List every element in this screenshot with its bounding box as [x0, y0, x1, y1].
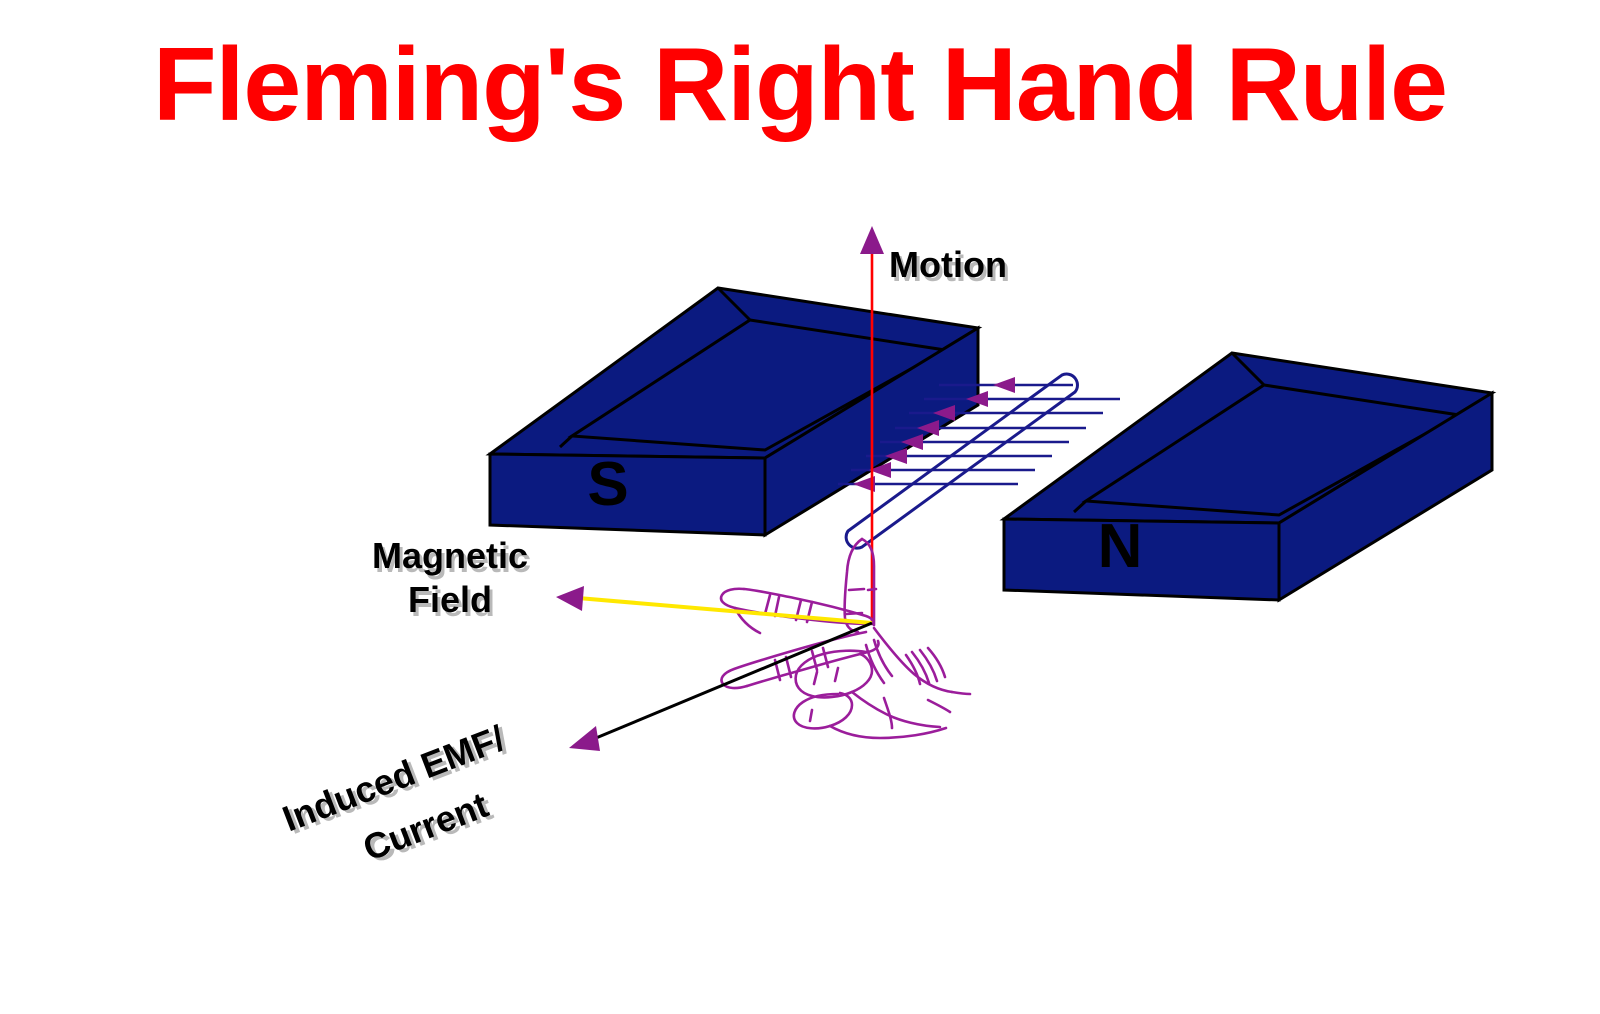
ring-crease-2	[835, 668, 838, 681]
thumb-knuckle-crease-1	[849, 589, 864, 590]
middle-finger-top-edge	[721, 632, 866, 688]
hand-lower-edge	[852, 692, 940, 727]
induced-emf-axis-line	[596, 623, 872, 738]
index-crease-1	[765, 595, 770, 614]
motion-arrowhead	[860, 226, 884, 254]
right-hand-drawing	[721, 539, 970, 738]
ring-finger-curl	[796, 651, 872, 698]
knuckle-fan-4	[928, 648, 945, 677]
palm-back-upper-edge	[874, 628, 952, 692]
pinky-crease	[810, 710, 812, 721]
page-title-text: Fleming's Right Hand Rule	[153, 27, 1447, 143]
induced-emf-axis: Induced EMF/ Induced EMF/ Current Curren…	[277, 623, 872, 872]
page-title: Fleming's Right Hand Rule	[153, 27, 1447, 143]
diagram-canvas: Fleming's Right Hand Rule S	[0, 0, 1600, 1014]
magnetic-field-label-line1: Magnetic	[372, 535, 528, 576]
north-pole-label: N	[1098, 512, 1143, 581]
magnetic-field-axis-line	[578, 598, 872, 623]
induced-emf-arrowhead	[569, 726, 600, 751]
motion-label: Motion	[889, 244, 1007, 285]
thumb-left-edge	[845, 539, 862, 632]
thumb-crease-right	[868, 589, 876, 590]
magnetic-field-label-line2: Field	[408, 579, 492, 620]
magnetic-field-arrowhead	[556, 586, 584, 611]
wrist-bottom-edge	[830, 726, 946, 738]
south-magnet: S	[490, 288, 978, 535]
field-arrowhead	[993, 377, 1015, 393]
flemings-right-hand-rule-diagram: Fleming's Right Hand Rule S	[0, 0, 1600, 1014]
palm-inner-line-2	[866, 645, 884, 683]
ring-crease-1	[814, 672, 817, 684]
wrist-crease-2	[952, 692, 970, 694]
south-pole-label: S	[587, 450, 628, 519]
wrist-crease-1	[928, 700, 950, 712]
